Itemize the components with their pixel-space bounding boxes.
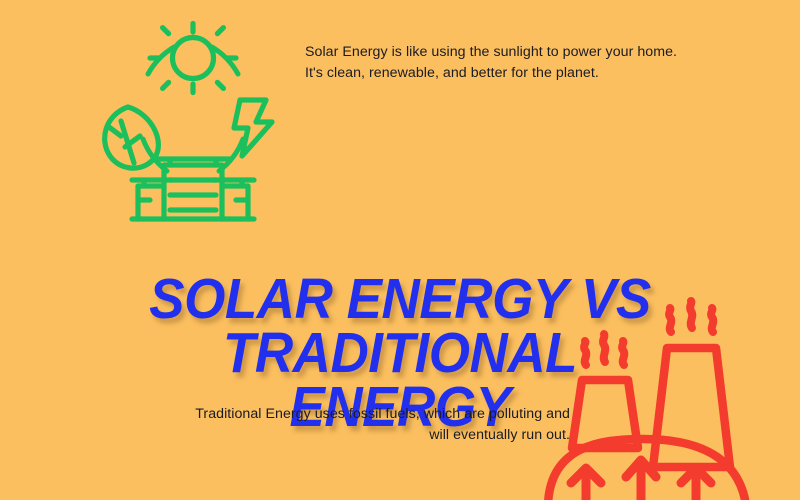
traditional-energy-description: Traditional Energy uses fossil fuels, wh… — [155, 404, 570, 446]
emission-arrow-icon — [626, 460, 656, 500]
smoke-squiggle-icon — [584, 334, 624, 365]
solar-energy-description: Solar Energy is like using the sunlight … — [305, 42, 755, 84]
smoke-squiggle-icon — [669, 301, 713, 332]
solar-plant-icon — [132, 159, 254, 219]
traditional-energy-illustration — [540, 300, 800, 500]
poster-canvas: Solar Energy is like using the sunlight … — [0, 0, 800, 500]
emission-arrow-icon — [571, 468, 601, 500]
emission-arrow-icon — [681, 468, 711, 500]
solar-energy-illustration — [88, 14, 298, 226]
leaf-icon — [105, 107, 159, 168]
